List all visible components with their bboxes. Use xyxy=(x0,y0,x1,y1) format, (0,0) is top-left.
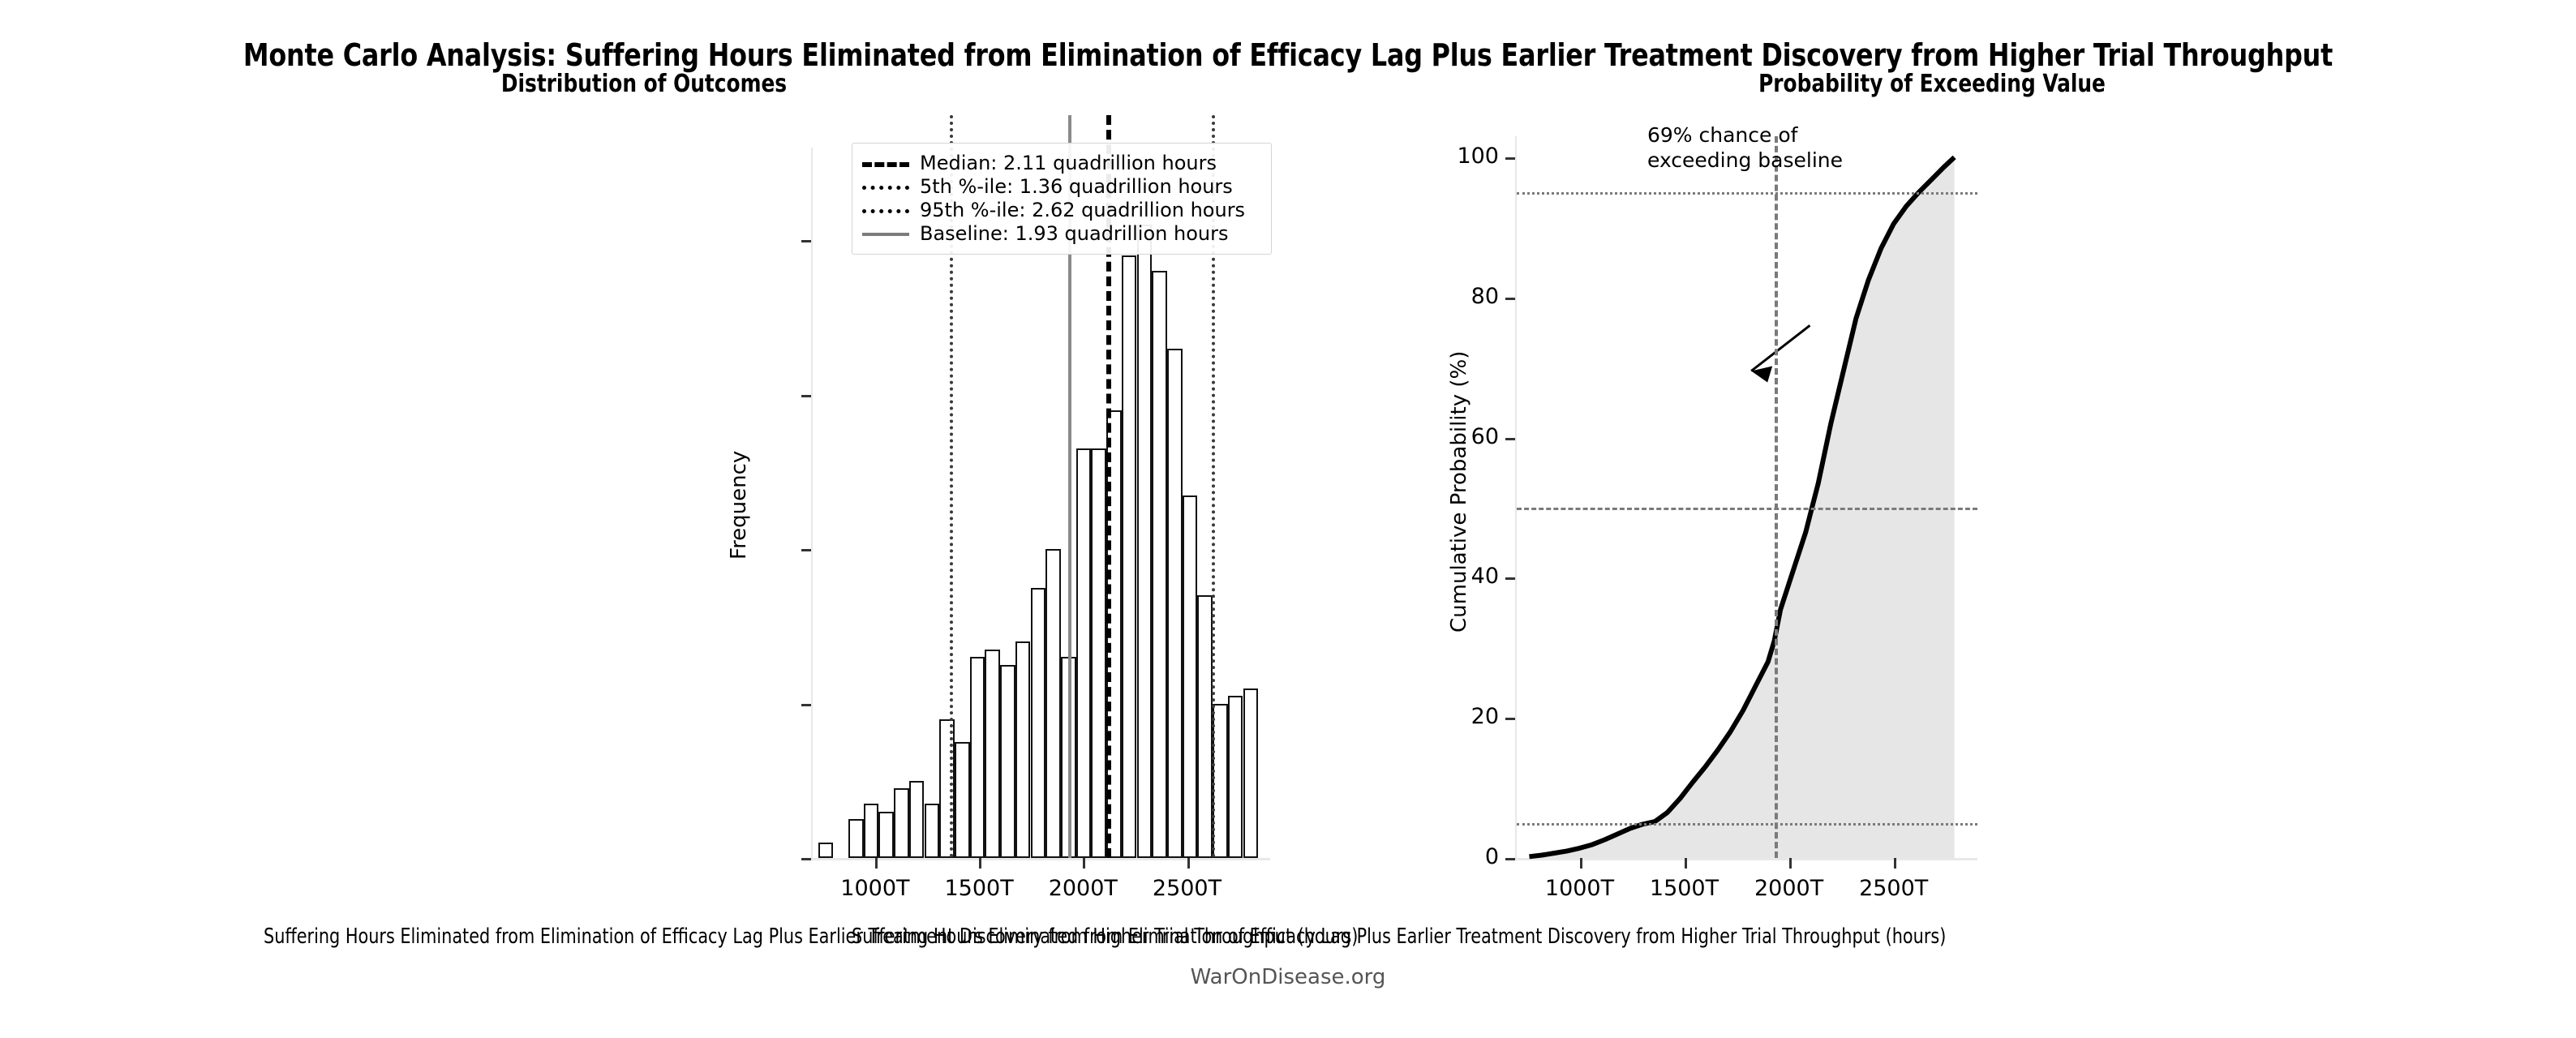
cdf-y-tick xyxy=(1505,438,1515,440)
hist-x-tick-label: 2500T xyxy=(1153,876,1221,901)
table-row xyxy=(925,804,940,858)
p5-line-swatch-icon xyxy=(862,178,909,195)
cdf-y-tick xyxy=(1505,157,1515,160)
hist-x-tick-label: 2000T xyxy=(1049,876,1118,901)
p95-line-swatch-icon xyxy=(862,202,909,218)
cdf-reference-baseline xyxy=(1775,136,1778,858)
table-row xyxy=(894,788,909,858)
cdf-y-tick-label: 40 xyxy=(1471,564,1499,589)
hist-y-tick xyxy=(801,395,811,397)
table-row xyxy=(1000,665,1015,858)
legend-label-baseline: Baseline: 1.93 quadrillion hours xyxy=(920,224,1228,243)
table-row xyxy=(909,781,925,858)
panel-exceedance: Probability of Exceeding Value Cumulativ… xyxy=(1288,0,2576,1038)
cdf-y-tick-label: 20 xyxy=(1471,704,1499,729)
legend-item-p95: 95th %-ile: 2.62 quadrillion hours xyxy=(862,198,1260,221)
table-row xyxy=(955,742,970,858)
table-row xyxy=(818,843,834,858)
table-row xyxy=(1243,688,1259,859)
table-row xyxy=(1228,696,1243,858)
cdf-x-tick-label: 1500T xyxy=(1650,876,1719,901)
hist-y-tick xyxy=(801,240,811,242)
median-line-swatch-icon xyxy=(862,155,909,171)
cdf-x-axis-line xyxy=(1515,858,1977,860)
cdf-x-tick-label: 2500T xyxy=(1859,876,1928,901)
cdf-y-axis-label: Cumulative Probability (%) xyxy=(1447,351,1471,633)
cdf-y-tick xyxy=(1505,298,1515,300)
table-row xyxy=(1197,595,1213,858)
cdf-x-axis-label: Suffering Hours Eliminated from Eliminat… xyxy=(852,924,1946,949)
baseline-line-swatch-icon xyxy=(862,225,909,242)
table-row xyxy=(1183,495,1198,859)
legend-item-p5: 5th %-ile: 1.36 quadrillion hours xyxy=(862,174,1260,198)
cdf-x-tick-label: 1000T xyxy=(1545,876,1614,901)
hist-x-tick-label: 1500T xyxy=(944,876,1013,901)
table-row xyxy=(970,657,985,858)
hist-y-tick xyxy=(801,549,811,551)
panel-distribution: Distribution of Outcomes Frequency 02040… xyxy=(0,0,1288,1038)
legend-label-p5: 5th %-ile: 1.36 quadrillion hours xyxy=(920,177,1233,196)
cdf-y-tick-label: 0 xyxy=(1485,844,1499,869)
hist-x-tick-label: 1000T xyxy=(840,876,909,901)
table-row xyxy=(1031,588,1046,858)
table-row xyxy=(985,650,1000,858)
hist-x-axis-line xyxy=(811,858,1270,860)
cdf-plot-area xyxy=(1517,136,1977,858)
table-row xyxy=(864,804,879,858)
table-row xyxy=(1045,549,1061,858)
cdf-y-tick xyxy=(1505,858,1515,860)
cdf-y-tick xyxy=(1505,718,1515,720)
cdf-reference-p5-level xyxy=(1517,823,1977,826)
cdf-reference-median-50 xyxy=(1517,508,1977,510)
histogram-legend[interactable]: Median: 2.11 quadrillion hours 5th %-ile… xyxy=(852,143,1272,255)
cdf-y-tick-label: 100 xyxy=(1457,144,1499,169)
hist-x-tick xyxy=(875,858,878,869)
cdf-curve-svg xyxy=(1517,136,1977,858)
legend-item-median: Median: 2.11 quadrillion hours xyxy=(862,151,1260,174)
cdf-annotation-text: 69% chance of exceeding baseline xyxy=(1647,123,1843,173)
cdf-x-tick xyxy=(1789,858,1792,869)
hist-x-tick xyxy=(1187,858,1190,869)
table-row xyxy=(1152,271,1167,858)
hist-y-tick xyxy=(801,704,811,706)
annotation-arrow-icon xyxy=(1751,325,1810,371)
table-row xyxy=(848,819,864,858)
cdf-reference-p95-level xyxy=(1517,192,1977,195)
table-row xyxy=(1091,448,1106,858)
hist-y-axis-label: Frequency xyxy=(727,451,751,560)
legend-item-baseline: Baseline: 1.93 quadrillion hours xyxy=(862,221,1260,245)
legend-label-median: Median: 2.11 quadrillion hours xyxy=(920,153,1217,173)
hist-x-tick xyxy=(979,858,981,869)
cdf-x-tick xyxy=(1580,858,1582,869)
table-row xyxy=(1137,225,1153,858)
cdf-x-tick xyxy=(1894,858,1896,869)
hist-y-tick xyxy=(801,858,811,860)
legend-label-p95: 95th %-ile: 2.62 quadrillion hours xyxy=(920,200,1245,220)
cdf-x-tick xyxy=(1685,858,1687,869)
hist-x-tick xyxy=(1083,858,1085,869)
panel-title-distribution: Distribution of Outcomes xyxy=(52,70,1237,98)
table-row xyxy=(878,812,894,858)
cdf-y-tick xyxy=(1505,577,1515,580)
table-row xyxy=(1076,448,1092,858)
table-row xyxy=(1122,255,1137,858)
table-row xyxy=(1167,349,1183,858)
table-row xyxy=(1015,641,1031,858)
cdf-y-tick-label: 80 xyxy=(1471,284,1499,309)
cdf-x-tick-label: 2000T xyxy=(1754,876,1823,901)
panel-title-exceedance: Probability of Exceeding Value xyxy=(1340,70,2525,98)
footer-attribution: WarOnDisease.org xyxy=(0,965,2576,989)
cdf-y-tick-label: 60 xyxy=(1471,424,1499,449)
